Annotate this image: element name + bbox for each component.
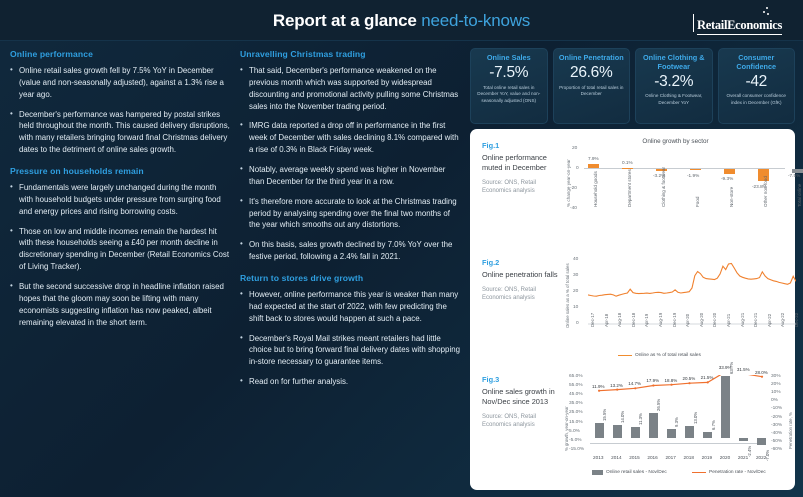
y-tick-right: -60% [771,447,782,452]
y-tick-right: -20% [771,415,782,420]
zero-line [584,168,785,169]
figure-1: Fig.1 Online performance muted in Decemb… [476,135,789,248]
x-tick-label: 2014 [611,455,621,460]
logo-dot-icon [767,13,769,15]
kpi-card-row: Online Sales -7.5% Total online retail s… [470,48,795,124]
legend-label: Penetration rate - Nov/Dec [709,470,766,475]
figure-3-legend-line: Penetration rate - Nov/Dec [692,470,766,475]
x-category-label: Household goods [593,171,598,207]
figure-2-meta: Fig.2 Online penetration falls Source: O… [482,258,560,302]
x-tick-label: 2016 [647,455,657,460]
logo-dot-icon [766,7,768,9]
bar-household-goods [588,164,599,168]
y-tick: 40 [573,257,578,262]
x-tick-label: Dec-19 [672,313,677,327]
kpi-value: 26.6% [558,63,626,84]
kpi-description: Online Clothing & Footwear, December YoY [640,93,708,106]
section-heading-pressure-households: Pressure on households remain [10,166,232,176]
y-tick-right: 30% [771,374,781,379]
retail-economics-logo: RetailEconomics [687,6,795,36]
list-item: December's performance was hampered by p… [10,109,232,156]
list-item: However, online performance this year is… [240,289,462,325]
figure-1-plot-area: 7.9% 0.1% -3.2% -1.9% -9.3% -23.8% -7.5%… [584,147,785,209]
y-tick: 15.0% [569,420,583,425]
bar-value-label: 0.1% [622,160,633,165]
figure-3-plot: % growth, year-on-year Penetration rate,… [562,369,789,482]
x-tick-label: 2022 [756,455,766,460]
bar-value-label: -9.3% [721,176,733,181]
chart-title: Online growth by sector [562,135,789,145]
list-item: Those on low and middle incomes remain t… [10,226,232,273]
figure-number: Fig.3 [482,375,560,384]
x-tick-label: 2021 [738,455,748,460]
kpi-card-online-sales: Online Sales -7.5% Total online retail s… [470,48,548,124]
logo-text: RetailEconomics [697,18,782,35]
bar-non-store [724,169,735,174]
y-tick: -15.0% [569,447,584,452]
figure-1-meta: Fig.1 Online performance muted in Decemb… [482,141,560,195]
y-tick: 65.0% [569,374,583,379]
x-tick-label: Aug-21 [740,313,745,327]
y-tick-right: -30% [771,423,782,428]
page-title-main: Report at a glance [273,11,417,30]
figure-3-legend-bars: Online retail sales - Nov/Dec [592,470,667,475]
bar-food [690,169,701,170]
y-tick-right: 10% [771,390,781,395]
x-tick-label: Dec-20 [712,313,717,327]
y-tick-right: -50% [771,439,782,444]
x-category-label: Clothing & footwear [661,167,666,207]
section-heading-online-performance: Online performance [10,49,232,59]
legend-line-swatch [618,355,632,357]
y-tick: 25.0% [569,410,583,415]
figure-title: Online sales growth in Nov/Dec since 201… [482,387,560,407]
x-tick-label: Apr-20 [685,314,690,327]
x-tick-label: 2020 [720,455,730,460]
y-axis-label: Online sales as a % of total sales [565,263,570,328]
bullet-list-online-performance: Online retail sales growth fell by 7.5% … [10,65,232,156]
list-item: It's therefore more accurate to look at … [240,196,462,232]
figure-number: Fig.2 [482,258,560,267]
x-tick-label: Apr-22 [767,314,772,327]
x-tick-label: Aug-22 [780,313,785,327]
list-item: On this basis, sales growth declined by … [240,239,462,263]
column-christmas-trading: Unravelling Christmas trading That said,… [240,49,462,396]
x-tick-label: Dec-17 [590,313,595,327]
header-bar: Report at a glance need-to-knows RetailE… [0,0,803,41]
x-tick-label: Aug-18 [617,313,622,327]
x-category-label: Non-store [729,187,734,207]
list-item: But the second successive drop in headli… [10,281,232,328]
figure-2-plot-area: Dec-17Apr-18Aug-18Dec-18Apr-19Aug-19Dec-… [588,260,783,326]
list-item: Online retail sales growth fell by 7.5% … [10,65,232,101]
y-tick-right: 20% [771,382,781,387]
figure-3: Fig.3 Online sales growth in Nov/Dec sin… [476,369,789,482]
list-item: Read on for further analysis. [240,376,462,388]
list-item: That said, December's performance weaken… [240,65,462,112]
kpi-value: -3.2% [640,72,708,93]
kpi-title: Online Sales [475,54,543,63]
line-value-label: 17.9% [646,378,659,383]
y-axis-label: % change year-on-year [566,159,571,207]
legend-bar-swatch [592,470,603,475]
section-heading-return-to-stores: Return to stores drive growth [240,273,462,283]
figure-source: Source: ONS, Retail Economics analysis [482,179,560,195]
y-tick-right: -40% [771,431,782,436]
x-tick-label: 2015 [629,455,639,460]
figure-number: Fig.1 [482,141,560,150]
y-tick: 55.0% [569,383,583,388]
figure-3-plot-area: 15.5%14.0%11.3%26.5%9.3%13.0%6.7%63.7%-2… [590,375,757,453]
list-item: Notably, average weekly spend was higher… [240,164,462,188]
x-tick-label: Apr-19 [644,314,649,327]
line-value-label: 14.7% [628,381,641,386]
kpi-description: Proportion of total retail sales in Dece… [558,85,626,98]
x-tick-label: 2017 [665,455,675,460]
bullet-list-christmas-trading: That said, December's performance weaken… [240,65,462,263]
x-tick-label: Aug-19 [658,313,663,327]
x-tick-label: Aug-20 [699,313,704,327]
y-tick: -5.0% [569,438,582,443]
y-tick: -40 [570,206,577,211]
figure-title: Online penetration falls [482,270,560,280]
x-tick-label: 2019 [702,455,712,460]
list-item: Fundamentals were largely unchanged duri… [10,182,232,218]
figure-1-plot: Online growth by sector % change year-on… [562,135,789,248]
kpi-title: Online Clothing & Footwear [640,54,708,72]
x-tick-label: 2018 [684,455,694,460]
y-axis-label-right: Penetration rate, % [788,412,793,449]
y-tick: -20 [570,186,577,191]
legend-label: Online retail sales - Nov/Dec [606,470,667,475]
x-category-label: Other non-food [763,176,768,207]
logo-dot-icon [763,11,765,13]
bar-value-label: 7.9% [588,156,599,161]
page-title-sub: need-to-knows [421,11,530,30]
x-category-label: Food [695,197,700,207]
figure-source: Source: ONS, Retail Economics analysis [482,413,560,429]
line-value-label: 31.5% [737,367,750,372]
y-tick: 0 [576,321,579,326]
x-tick-label: Apr-18 [604,314,609,327]
section-heading-christmas-trading: Unravelling Christmas trading [240,49,462,59]
y-tick: 5.0% [569,429,580,434]
x-category-label: Total online [797,184,802,207]
kpi-title: Consumer Confidence [723,54,791,72]
charts-panel: Fig.1 Online performance muted in Decemb… [470,129,795,490]
kpi-description: Total online retail sales in December Yo… [475,85,543,105]
x-tick-label: Dec-22 [794,313,799,327]
logo-rule [693,14,694,32]
kpi-value: -42 [723,72,791,93]
y-tick: 45.0% [569,392,583,397]
figure-source: Source: ONS, Retail Economics analysis [482,286,560,302]
line-value-label: 28.0% [755,370,768,375]
list-item: December's Royal Mail strikes meant reta… [240,333,462,369]
line-value-label: 13.2% [610,383,623,388]
report-page: Report at a glance need-to-knows RetailE… [0,0,803,497]
line-value-label: 21.5% [701,375,714,380]
x-category-label: Department stores [627,169,632,207]
bullet-list-return-to-stores: However, online performance this year is… [240,289,462,388]
line-value-label: 33.9% [719,365,732,370]
y-tick-right: 0% [771,398,778,403]
kpi-card-online-clothing-footwear: Online Clothing & Footwear -3.2% Online … [635,48,713,124]
legend-line-swatch [692,472,706,474]
y-tick: 0 [576,166,579,171]
y-tick: 30 [573,273,578,278]
column-online-performance: Online performance Online retail sales g… [10,49,232,336]
x-tick-label: Apr-21 [726,314,731,327]
x-tick-label: Dec-18 [631,313,636,327]
legend-label: Online as % of total retail sales [635,353,701,358]
y-tick: 20 [573,289,578,294]
bar-value-label: -7.5% [788,173,800,178]
x-tick-label: 2013 [593,455,603,460]
figure-3-meta: Fig.3 Online sales growth in Nov/Dec sin… [482,375,560,429]
list-item: IMRG data reported a drop off in perform… [240,120,462,156]
page-title: Report at a glance need-to-knows [0,11,803,31]
y-tick-right: -10% [771,406,782,411]
kpi-value: -7.5% [475,63,543,84]
x-tick-label: Dec-21 [753,313,758,327]
bar-value-label: -1.9% [687,173,699,178]
line-value-label: 11.9% [592,384,604,389]
kpi-title: Online Penetration [558,54,626,63]
kpi-card-online-penetration: Online Penetration 26.6% Proportion of t… [553,48,631,124]
line-value-label: 18.8% [664,378,677,383]
figure-2: Fig.2 Online penetration falls Source: O… [476,252,789,365]
bullet-list-pressure-households: Fundamentals were largely unchanged duri… [10,182,232,328]
y-tick: 35.0% [569,401,583,406]
figure-title: Online performance muted in December [482,153,560,173]
y-tick: 20 [572,146,577,151]
figure-2-plot: Online sales as a % of total sales 40 30… [562,252,789,365]
y-tick: 10 [573,305,578,310]
kpi-card-consumer-confidence: Consumer Confidence -42 Overall consumer… [718,48,796,124]
line-value-label: 20.5% [683,376,696,381]
figure-2-legend: Online as % of total retail sales [618,353,701,358]
kpi-description: Overall consumer confidence index in Dec… [723,93,791,106]
